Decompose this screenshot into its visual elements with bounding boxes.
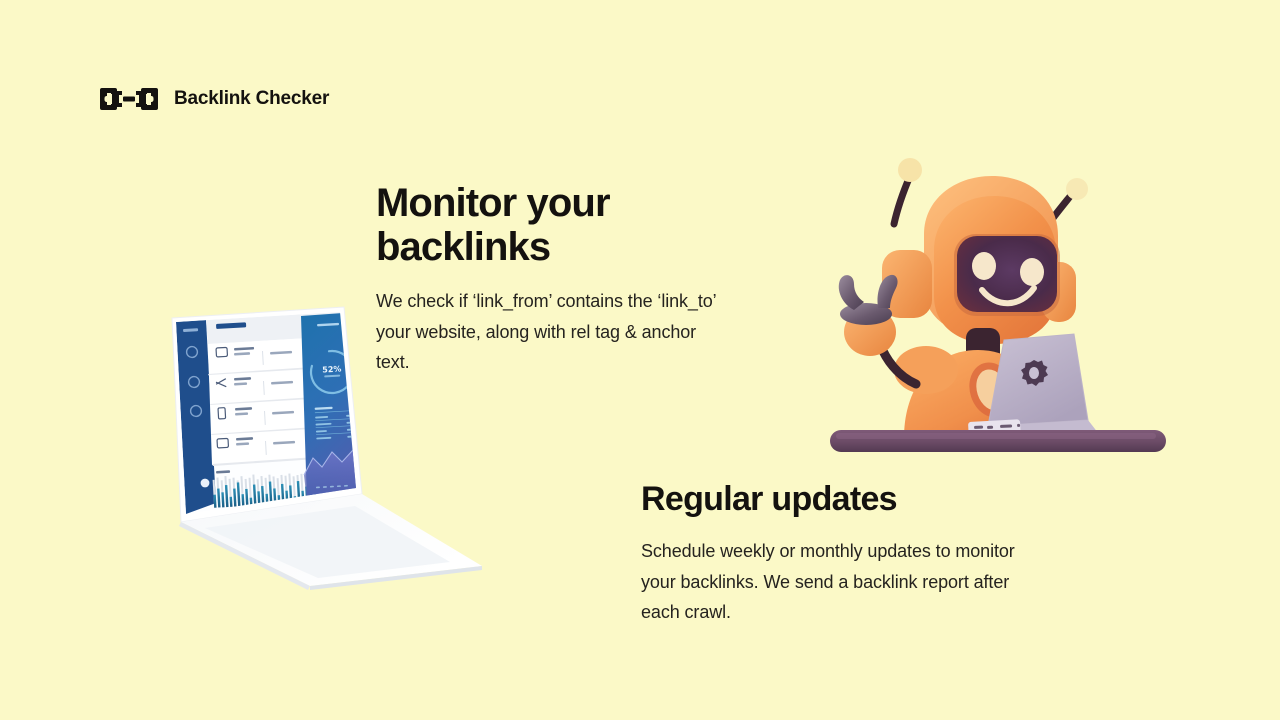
chain-link-icon bbox=[98, 84, 160, 114]
robot-with-laptop-illustration bbox=[806, 138, 1186, 458]
brand-name-label: Backlink Checker bbox=[174, 88, 329, 110]
body-regular-updates: Schedule weekly or monthly updates to mo… bbox=[641, 536, 1031, 628]
heading-monitor-your-backlinks: Monitor your backlinks bbox=[376, 181, 721, 269]
feature-block-monitor: Monitor your backlinks We check if ‘link… bbox=[376, 181, 721, 378]
body-monitor-your-backlinks: We check if ‘link_from’ contains the ‘li… bbox=[376, 286, 721, 378]
svg-text:52%: 52% bbox=[322, 364, 342, 374]
landing-page: Backlink Checker bbox=[0, 0, 1280, 720]
feature-block-updates: Regular updates Schedule weekly or month… bbox=[641, 479, 1031, 628]
brand-logo-group[interactable]: Backlink Checker bbox=[98, 84, 329, 114]
heading-regular-updates: Regular updates bbox=[641, 479, 1031, 519]
